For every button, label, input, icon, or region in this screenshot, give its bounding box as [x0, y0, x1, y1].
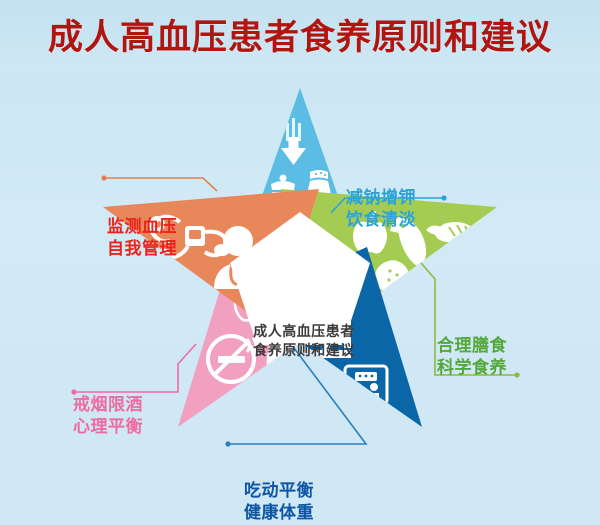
- poster-title-bar: 成人高血压患者食养原则和建议: [0, 0, 600, 74]
- label-move-line2: 健康体重: [244, 502, 314, 524]
- center-label-line1: 成人高血压患者: [234, 322, 374, 341]
- label-smoke-line2: 心理平衡: [73, 416, 143, 438]
- label-sodium[interactable]: 减钠增钾 饮食清淡: [346, 187, 416, 232]
- label-smoke-line1: 戒烟限酒: [73, 394, 143, 416]
- center-label-line2: 食养原则和建议: [234, 341, 374, 360]
- center-label: 成人高血压患者 食养原则和建议: [234, 322, 374, 361]
- label-monitor-line1: 监测血压: [107, 216, 177, 238]
- label-move[interactable]: 吃动平衡 健康体重: [244, 480, 314, 525]
- label-monitor-line2: 自我管理: [107, 238, 177, 260]
- label-sodium-line2: 饮食清淡: [346, 209, 416, 231]
- infographic-poster: 成人高血压患者食养原则和建议: [0, 0, 600, 485]
- page-title: 成人高血压患者食养原则和建议: [48, 20, 552, 55]
- star-diagram: 成人高血压患者 食养原则和建议 减钠增钾 饮食清淡 监测血压 自我管理 合理膳食…: [0, 74, 600, 485]
- label-move-line1: 吃动平衡: [244, 480, 314, 502]
- label-smoke[interactable]: 戒烟限酒 心理平衡: [73, 394, 143, 439]
- label-diet-line2: 科学食养: [437, 357, 507, 379]
- label-sodium-line1: 减钠增钾: [346, 187, 416, 209]
- connector-smoke: [71, 344, 196, 395]
- label-diet-line1: 合理膳食: [437, 335, 507, 357]
- connector-monitor: [101, 175, 217, 191]
- label-diet[interactable]: 合理膳食 科学食养: [437, 335, 507, 380]
- label-monitor[interactable]: 监测血压 自我管理: [107, 216, 177, 261]
